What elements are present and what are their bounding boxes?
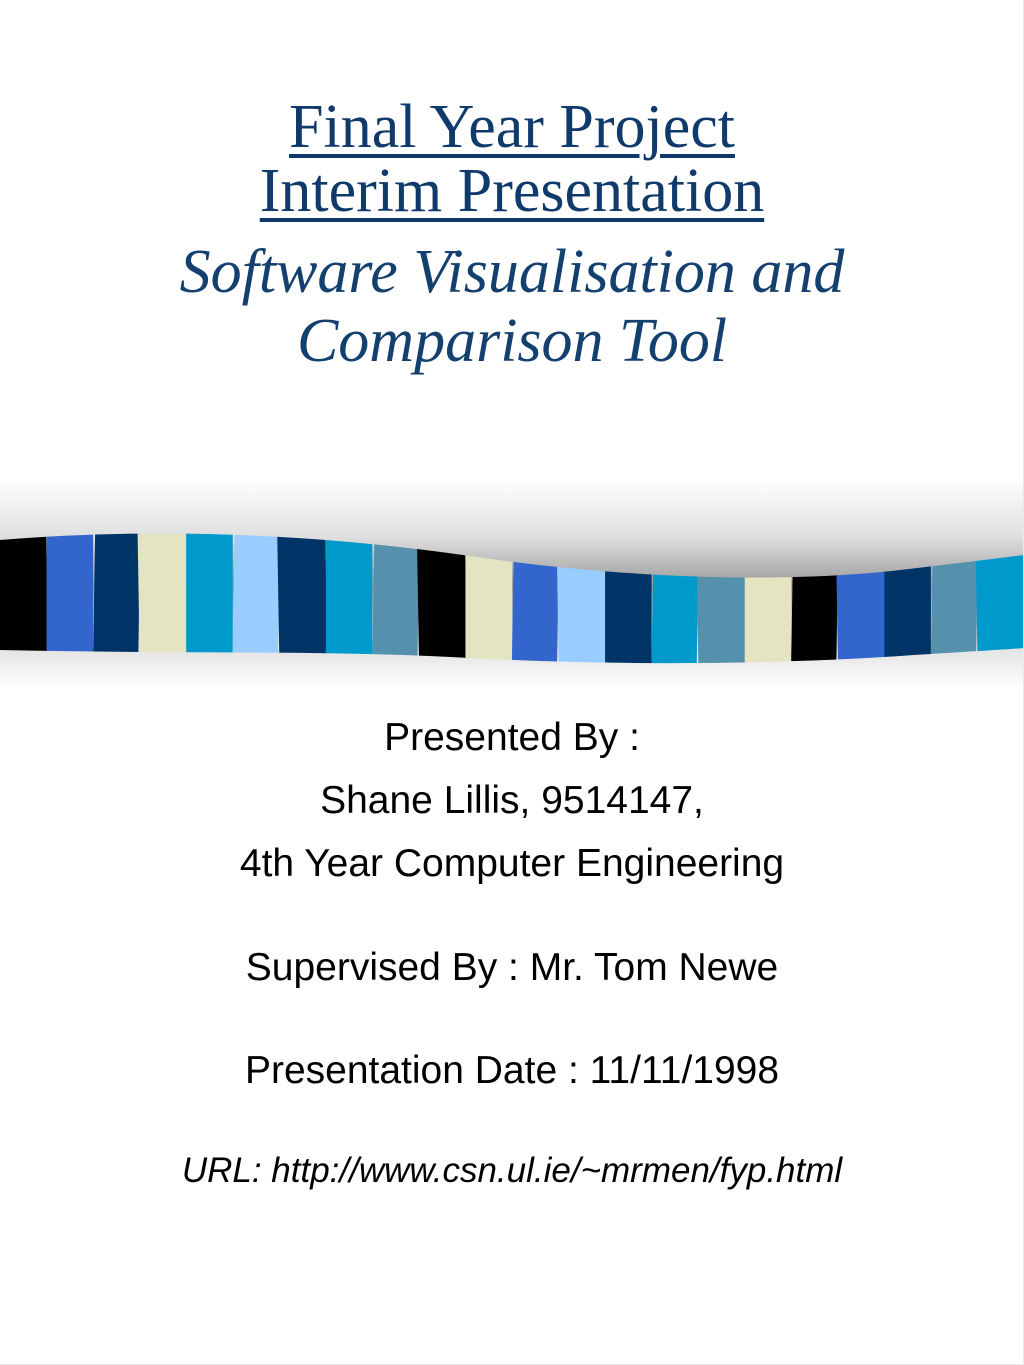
presentation-date-line: Presentation Date : 11/11/1998 [0,1039,1024,1102]
presenter-course: 4th Year Computer Engineering [0,832,1024,895]
title-line-1: Final Year Project [0,96,1024,160]
presenter-name: Shane Lillis, 9514147, [0,769,1024,832]
wavy-striped-band [0,478,1024,690]
spacer-2 [0,999,1024,1039]
presented-by-label: Presented By : [0,706,1024,769]
supervisor-line: Supervised By : Mr. Tom Newe [0,936,1024,999]
title-line-1-text: Final Year Project [289,93,735,161]
wavy-striped-band-graphic [0,478,1024,690]
title-line-2-text: Interim Presentation [260,157,764,225]
presentation-slide: Final Year Project Interim Presentation … [0,0,1024,1365]
subtitle-line-1: Software Visualisation and [0,238,1024,307]
spacer-1 [0,896,1024,936]
subtitle-line-2: Comparison Tool [0,307,1024,376]
title-block: Final Year Project Interim Presentation … [0,96,1024,377]
project-url: URL: http://www.csn.ul.ie/~mrmen/fyp.htm… [0,1148,1024,1194]
subtitle-block: Software Visualisation and Comparison To… [0,238,1024,377]
spacer-3 [0,1102,1024,1148]
body-text-block: Presented By : Shane Lillis, 9514147, 4t… [0,706,1024,1193]
title-line-2: Interim Presentation [0,160,1024,224]
